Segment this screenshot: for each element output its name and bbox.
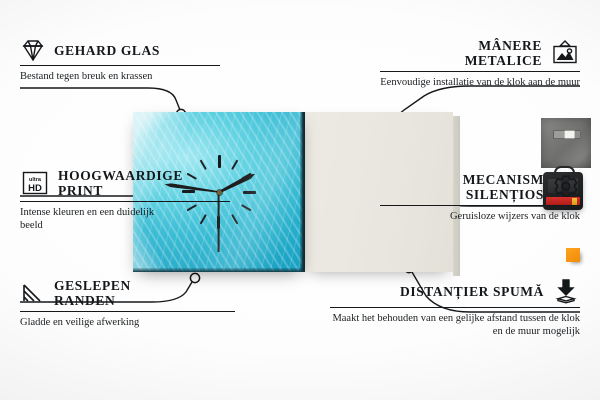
callout-header: DISTANȚIER SPUMĂ xyxy=(330,278,580,304)
callout-title: GESLEPEN RANDEN xyxy=(54,278,174,308)
svg-text:HD: HD xyxy=(28,183,42,194)
callout-header: GEHARD GLAS xyxy=(20,38,220,62)
callout-description: Geruisloze wijzers van de klok xyxy=(380,210,580,223)
metal-hanger-plate xyxy=(541,118,591,168)
callout-description: Eenvoudige installatie van de klok aan d… xyxy=(380,76,580,89)
infographic-canvas: GEHARD GLAS Bestand tegen breuk en krass… xyxy=(0,0,600,400)
foam-spacer xyxy=(566,248,580,262)
callout-rule xyxy=(20,311,235,312)
callout-print-quality: ultra HD HOOGWAARDIGE PRINT Intense kleu… xyxy=(20,168,230,232)
callout-header: MECANISM SILENȚIOS xyxy=(380,172,580,202)
callout-header: MÂNERE METALICE xyxy=(380,38,580,68)
callout-metal-handles: MÂNERE METALICE Eenvoudige installatie v… xyxy=(380,38,580,89)
gear-icon xyxy=(552,174,580,200)
callout-title: GEHARD GLAS xyxy=(54,43,160,58)
down-arrow-stack-icon xyxy=(552,278,580,304)
callout-title: HOOGWAARDIGE PRINT xyxy=(58,168,198,198)
beveled-edges-icon xyxy=(20,281,46,305)
clock-edge-right xyxy=(300,112,305,272)
callout-rule xyxy=(20,65,220,66)
picture-frame-icon xyxy=(550,40,580,66)
callout-description: Intense kleuren en een duidelijk beeld xyxy=(20,206,170,232)
ultra-hd-icon: ultra HD xyxy=(20,170,50,196)
callout-header: GESLEPEN RANDEN xyxy=(20,278,235,308)
callout-description: Bestand tegen breuk en krassen xyxy=(20,70,170,83)
callout-beveled-edges: GESLEPEN RANDEN Gladde en veilige afwerk… xyxy=(20,278,235,329)
callout-rule xyxy=(380,71,580,72)
callout-rule xyxy=(380,205,580,206)
diamond-icon xyxy=(20,38,46,62)
callout-title: MÂNERE METALICE xyxy=(412,38,542,68)
callout-description: Maakt het behouden van een gelijke afsta… xyxy=(330,312,580,338)
callout-tempered-glass: GEHARD GLAS Bestand tegen breuk en krass… xyxy=(20,38,220,83)
callout-rule xyxy=(330,307,580,308)
callout-silent-mechanism: MECANISM SILENȚIOS Geruisloze wijzers va… xyxy=(380,172,580,223)
callout-foam-spacer: DISTANȚIER SPUMĂ Maakt het behouden van … xyxy=(330,278,580,338)
callout-title: MECANISM SILENȚIOS xyxy=(414,172,544,202)
callout-description: Gladde en veilige afwerking xyxy=(20,316,200,329)
clock-edge-bottom xyxy=(133,268,305,272)
callout-rule xyxy=(20,201,230,202)
leader-line-top-left xyxy=(20,88,180,110)
callout-title: DISTANȚIER SPUMĂ xyxy=(400,284,544,299)
callout-header: ultra HD HOOGWAARDIGE PRINT xyxy=(20,168,230,198)
